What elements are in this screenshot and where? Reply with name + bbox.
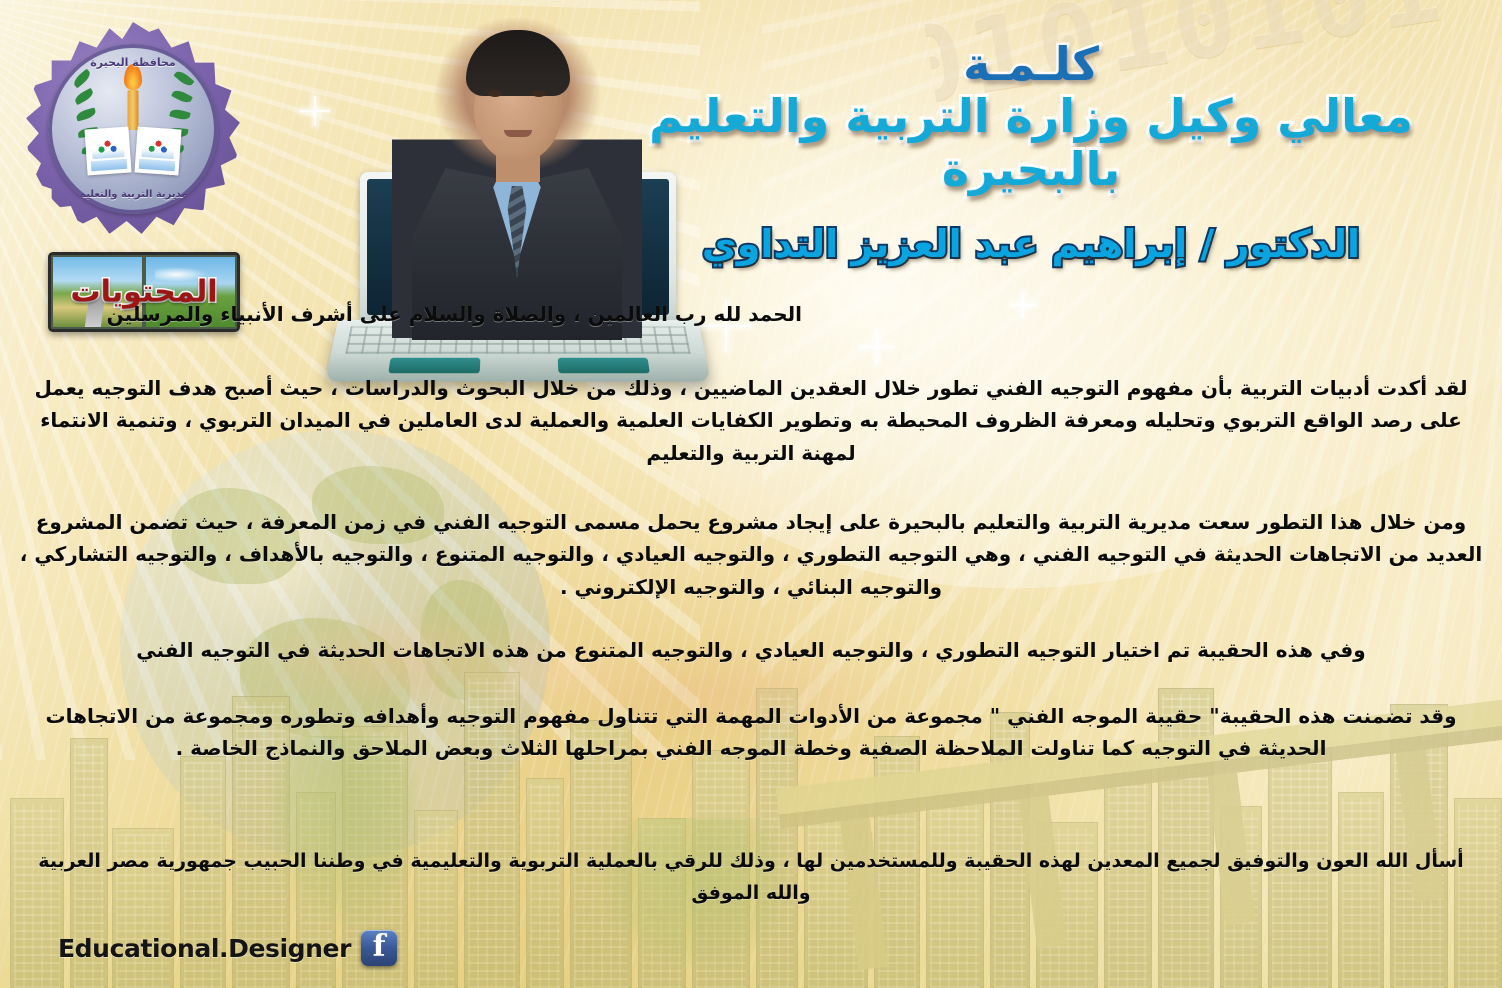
beheira-education-logo: محافظة البحيرة مديرية التربية والتعليم [26,22,240,236]
title-line-1: كلـمـة [606,40,1456,88]
portrait-hair [466,30,570,96]
paragraph-5: وقد تضمنت هذه الحقيبة" حقيبة الموجه الفن… [18,700,1484,765]
portrait-mouth [504,130,532,137]
paragraph-6-closing: أسأل الله العون والتوفيق لجميع المعدين ل… [18,845,1484,910]
logo-bottom-text: مديرية التربية والتعليم [48,189,218,200]
avatar [392,18,642,338]
sparkle-icon [300,96,330,126]
sparkle-icon [1010,292,1036,318]
paragraph-3: ومن خلال هذا التطور سعت مديرية التربية و… [18,506,1484,603]
open-book-icon [134,127,181,176]
paragraph-4: وفي هذه الحقيبة تم اختيار التوجيه التطور… [18,634,1484,666]
page-title: كلـمـة معالي وكيل وزارة التربية والتعليم… [606,40,1456,266]
facebook-page-name: Educational.Designer [58,934,351,963]
facebook-icon[interactable] [361,930,397,966]
sparkle-icon [860,330,894,364]
portrait-eye [532,90,546,97]
speaker-name: الدكتور / إبراهيم عبد العزيز التداوي [606,222,1456,266]
open-book-icon [84,127,131,176]
laptop-trackpad [558,358,650,373]
laptop-trackpad [388,358,480,373]
logo-top-text: محافظة البحيرة [48,56,218,69]
paragraph-1: الحمد لله رب العالمين ، والصلاة والسلام … [12,298,802,330]
logo-inner-disc: محافظة البحيرة مديرية التربية والتعليم [48,44,218,214]
torch-stem-icon [128,90,139,130]
facebook-credit[interactable]: Educational.Designer [58,930,397,966]
portrait-eye [488,90,502,97]
paragraph-2: لقد أكدت أدبيات التربية بأن مفهوم التوجي… [18,372,1484,469]
cityscape-graphic [0,568,1502,988]
title-line-2: معالي وكيل وزارة التربية والتعليم بالبحي… [606,90,1456,196]
poster-canvas: 10101010101 [0,0,1502,988]
